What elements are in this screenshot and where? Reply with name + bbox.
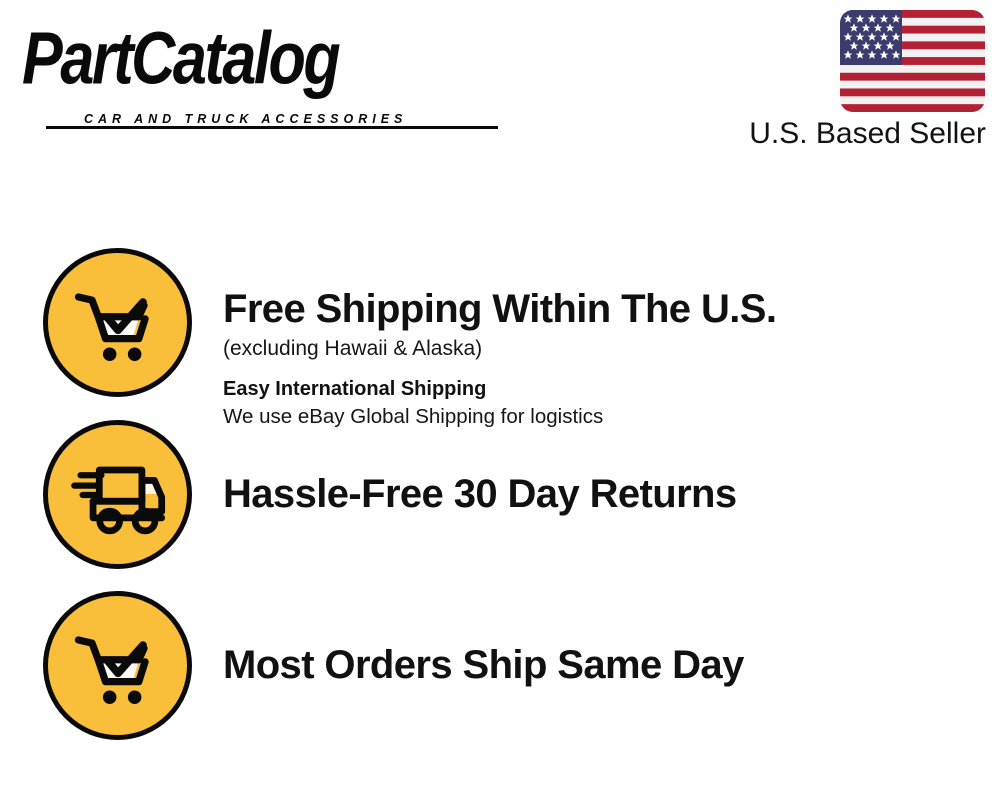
banner-header: PartCatalog CAR AND TRUCK ACCESSORIES	[0, 0, 1000, 175]
feature-title: Free Shipping Within The U.S.	[223, 288, 963, 330]
shopping-cart-check-icon	[43, 591, 192, 740]
us-flag-icon	[840, 10, 985, 112]
brand-underline-rule	[46, 126, 498, 129]
part-catalog-logo: PartCatalog CAR AND TRUCK ACCESSORIES	[22, 22, 492, 112]
shopping-cart-check-icon	[43, 248, 192, 397]
promo-banner: PartCatalog CAR AND TRUCK ACCESSORIES	[0, 0, 1000, 800]
feature-subtitle: (excluding Hawaii & Alaska)	[223, 336, 963, 362]
feature-text-block: Most Orders Ship Same Day	[223, 644, 963, 686]
feature-title: Hassle-Free 30 Day Returns	[223, 473, 963, 515]
feature-subheading: Easy International Shipping	[223, 377, 963, 402]
feature-title: Most Orders Ship Same Day	[223, 644, 963, 686]
brand-wordmark: PartCatalog	[22, 22, 338, 96]
brand-tagline: CAR AND TRUCK ACCESSORIES	[84, 112, 407, 126]
us-based-seller-label: U.S. Based Seller	[749, 117, 986, 151]
delivery-truck-icon	[43, 420, 192, 569]
feature-note: We use eBay Global Shipping for logistic…	[223, 404, 963, 431]
feature-text-block: Free Shipping Within The U.S. (excluding…	[223, 288, 963, 430]
feature-text-block: Hassle-Free 30 Day Returns	[223, 473, 963, 515]
